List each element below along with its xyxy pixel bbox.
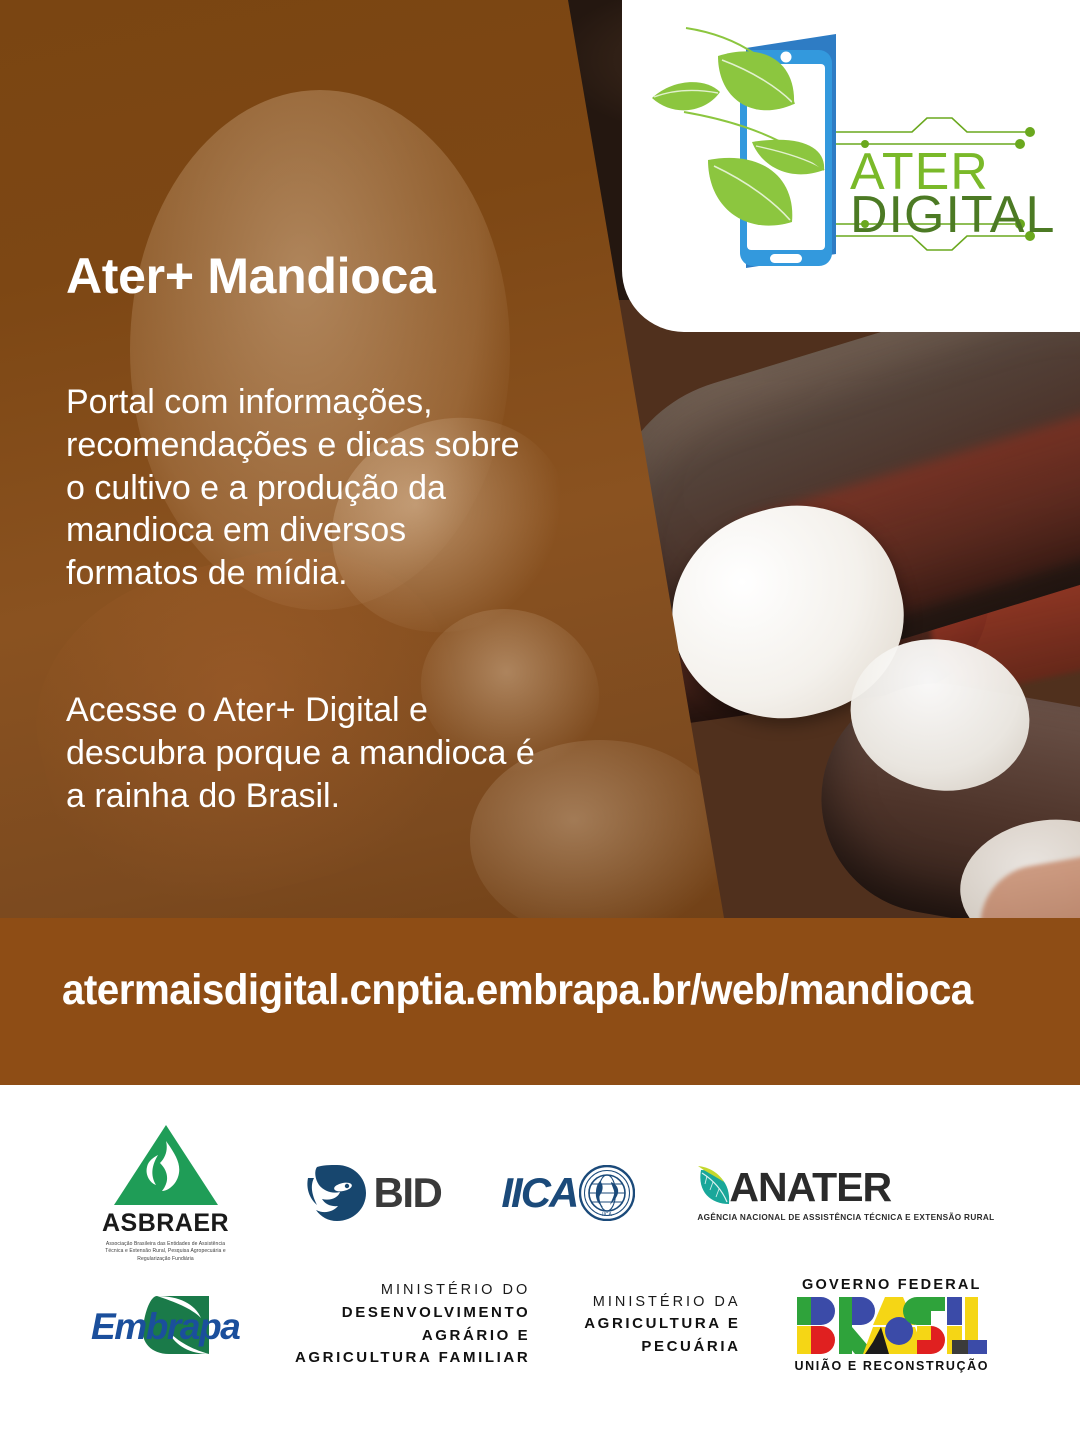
mapa-line-1: MINISTÉRIO DA (593, 1292, 741, 1314)
digital-word: DIGITAL (850, 186, 1055, 244)
iica-logo[interactable]: IICA IICA (501, 1165, 635, 1221)
url-band: atermaisdigital.cnptia.embrapa.br/web/ma… (0, 918, 1080, 1085)
partner-logo-row-2: Embrapa MINISTÉRIO DO DESENVOLVIMENTO AG… (0, 1277, 1080, 1373)
brasil-wordmark-icon (797, 1297, 987, 1355)
ater-digital-logo-panel: ATER DIGITAL (622, 0, 1080, 332)
partner-logo-row-1: ASBRAER Associação Brasileira das Entida… (0, 1123, 1080, 1263)
asbraer-word: ASBRAER (102, 1209, 229, 1238)
ministerio-desenvolvimento-agrario-logo[interactable]: MINISTÉRIO DO DESENVOLVIMENTO AGRÁRIO E … (295, 1280, 530, 1369)
ater-digital-logo: ATER DIGITAL (622, 0, 1080, 332)
hero-photo-section: Ater+ Mandioca Portal com informações, r… (0, 0, 1080, 918)
embrapa-word: Embrapa (91, 1306, 240, 1348)
mda-line-1: MINISTÉRIO DO (381, 1280, 530, 1302)
anater-logo[interactable]: ANATER AGÊNCIA NACIONAL DE ASSISTÊNCIA T… (695, 1164, 994, 1222)
anater-word: ANATER (729, 1164, 891, 1211)
governo-federal-bottom: UNIÃO E RECONSTRUÇÃO (795, 1359, 990, 1373)
description-paragraph-1: Portal com informações, recomendações e … (66, 381, 536, 595)
partner-logos-footer: ASBRAER Associação Brasileira das Entida… (0, 1085, 1080, 1440)
iica-globe-seal-icon: IICA (579, 1165, 635, 1221)
iica-word: IICA (501, 1169, 577, 1217)
asbraer-tagline: Associação Brasileira das Entidades de A… (102, 1241, 230, 1263)
mda-line-2: DESENVOLVIMENTO (342, 1302, 530, 1325)
governo-federal-logo[interactable]: GOVERNO FEDERAL (795, 1277, 990, 1373)
poster-root: Ater+ Mandioca Portal com informações, r… (0, 0, 1080, 1440)
ministerio-agricultura-pecuaria-logo[interactable]: MINISTÉRIO DA AGRICULTURA E PECUÁRIA (584, 1292, 740, 1359)
description-paragraph-2: Acesse o Ater+ Digital e descubra porque… (66, 689, 536, 817)
page-title: Ater+ Mandioca (66, 250, 536, 303)
svg-text:IICA: IICA (603, 1212, 613, 1218)
portal-url[interactable]: atermaisdigital.cnptia.embrapa.br/web/ma… (62, 966, 964, 1015)
bid-swirl-icon (306, 1164, 368, 1222)
anater-top: ANATER (695, 1164, 891, 1211)
mda-line-3: AGRÁRIO E (422, 1325, 530, 1348)
mapa-line-3: PECUÁRIA (641, 1336, 740, 1359)
embrapa-logo[interactable]: Embrapa (91, 1294, 241, 1356)
mapa-line-2: AGRICULTURA E (584, 1313, 740, 1336)
bid-logo[interactable]: BID (306, 1164, 442, 1222)
anater-tagline: AGÊNCIA NACIONAL DE ASSISTÊNCIA TÉCNICA … (697, 1213, 994, 1222)
mda-line-4: AGRICULTURA FAMILIAR (295, 1347, 530, 1370)
governo-federal-top: GOVERNO FEDERAL (802, 1277, 982, 1293)
bid-word: BID (374, 1169, 442, 1217)
asbraer-logo[interactable]: ASBRAER Associação Brasileira das Entida… (86, 1123, 246, 1263)
asbraer-triangle-flame-icon (112, 1123, 220, 1207)
